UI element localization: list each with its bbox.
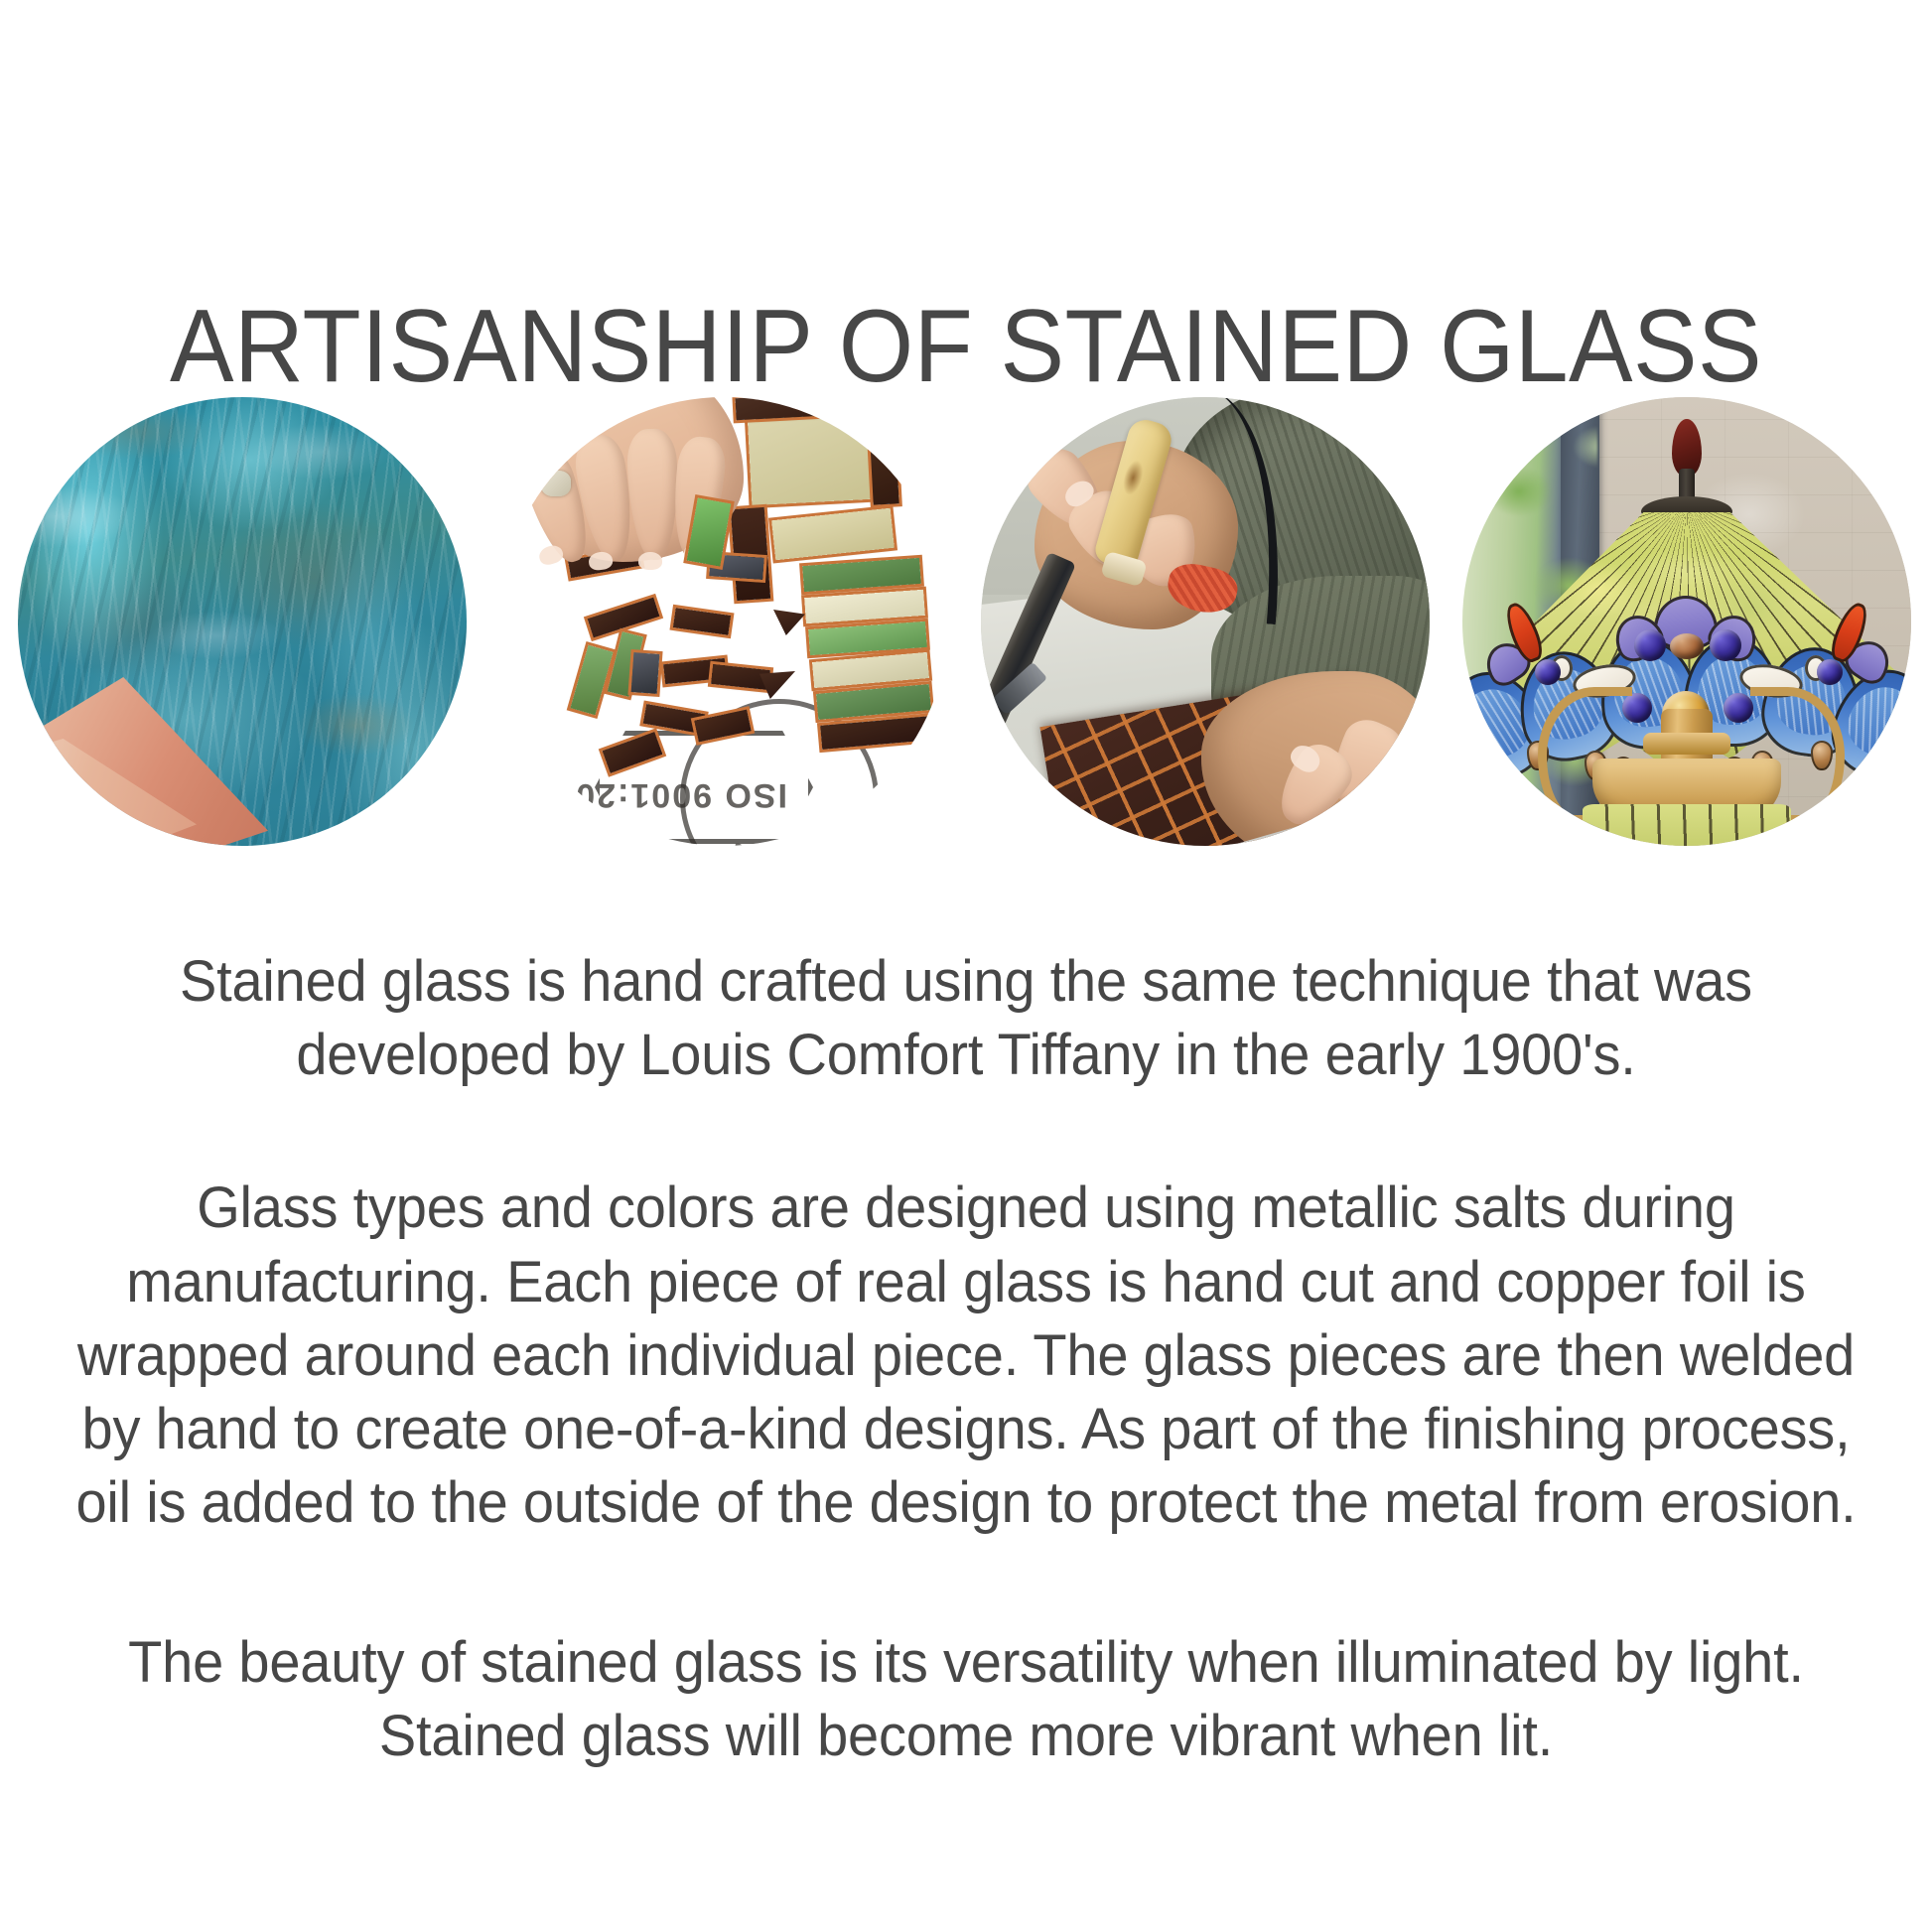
glass-piece (771, 508, 895, 560)
glass-piece (812, 652, 929, 688)
blue-jewel (1634, 629, 1666, 661)
image-circle-glass-sheet (18, 397, 467, 846)
finger-ring (541, 471, 571, 496)
glass-piece (631, 652, 660, 694)
glass-piece (816, 684, 931, 720)
image-gallery-row: SUPER QU ISO 9001:20 (0, 397, 1932, 879)
amber-center-jewel (1670, 633, 1704, 659)
blue-jewel (1710, 629, 1741, 661)
teal-glass-sheet-photo (18, 397, 467, 846)
soldering-photo (981, 397, 1430, 846)
paragraph-process: Glass types and colors are designed usin… (69, 1172, 1863, 1540)
glass-piece (808, 621, 927, 655)
paragraph-intro: Stained glass is hand crafted using the … (69, 945, 1863, 1092)
glass-piece (804, 590, 925, 623)
glass-piece (759, 671, 795, 699)
image-circle-soldering (981, 397, 1430, 846)
stamp-text-iso: ISO 9001:20 (574, 775, 787, 814)
glass-piece (802, 558, 921, 592)
copper-foil-pieces-photo: SUPER QU ISO 9001:20 (499, 397, 948, 846)
image-circle-copper-foil: SUPER QU ISO 9001:20 (499, 397, 948, 846)
glass-piece (673, 608, 731, 635)
lamp-lower-glass-body (1583, 804, 1791, 846)
blue-jewel (1535, 659, 1561, 685)
page-title: ARTISANSHIP OF STAINED GLASS (68, 293, 1864, 401)
blue-jewel (1817, 659, 1843, 685)
glass-piece (748, 408, 872, 505)
blue-jewel (1724, 693, 1753, 723)
lamp-brass-collar (1643, 733, 1730, 755)
infographic-page: ARTISANSHIP OF STAINED GLASS SUPER QU IS… (0, 0, 1932, 1932)
tiffany-lamp-photo (1462, 397, 1911, 846)
fingernail (638, 552, 662, 570)
glass-piece (868, 400, 898, 504)
paragraph-beauty: The beauty of stained glass is its versa… (69, 1626, 1863, 1773)
body-copy: Stained glass is hand crafted using the … (0, 945, 1932, 1773)
glass-piece (731, 507, 770, 601)
glass-piece (773, 610, 805, 635)
image-circle-tiffany-lamp (1462, 397, 1911, 846)
